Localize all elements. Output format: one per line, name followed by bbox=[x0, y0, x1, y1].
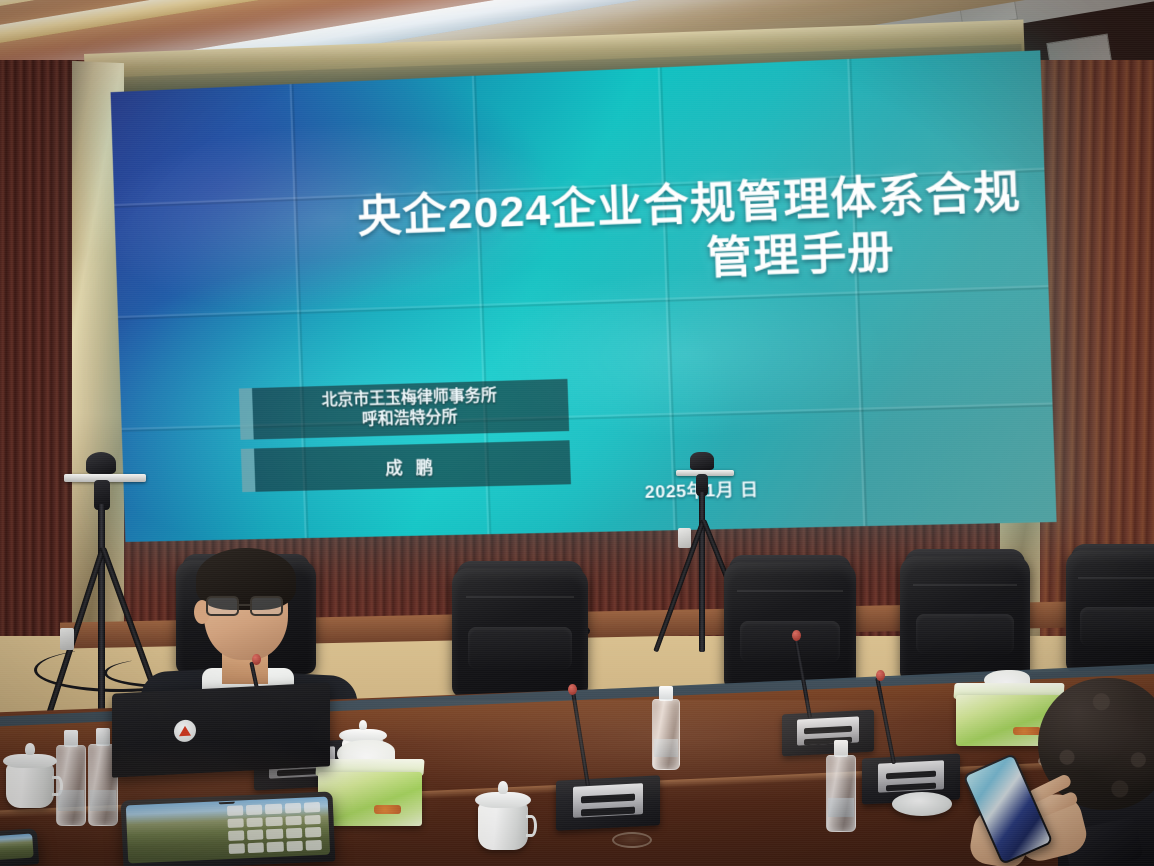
tissue-box-body bbox=[318, 772, 422, 826]
slide-organization-box: 北京市王玉梅律师事务所 呼和浩特分所 bbox=[239, 379, 569, 440]
laptop-closed[interactable] bbox=[112, 682, 330, 777]
slide-content: 央企2024企业合规管理体系合规 管理手册 北京市王玉梅律师事务所 呼和浩特分所… bbox=[111, 50, 1057, 542]
microphone-2-capsule bbox=[568, 684, 577, 695]
saucer bbox=[892, 792, 952, 816]
laptop-desktop-icons bbox=[227, 802, 322, 855]
chair-backrest bbox=[900, 556, 1030, 682]
camera-head-icon bbox=[86, 452, 116, 474]
conference-room-photo: 央企2024企业合规管理体系合规 管理手册 北京市王玉梅律师事务所 呼和浩特分所… bbox=[0, 0, 1154, 866]
water-bottle-1 bbox=[56, 730, 86, 826]
chair-lumbar-panel bbox=[740, 621, 840, 662]
led-video-wall[interactable]: 央企2024企业合规管理体系合规 管理手册 北京市王玉梅律师事务所 呼和浩特分所… bbox=[111, 50, 1057, 542]
laptop-webcam-icon bbox=[219, 801, 235, 805]
microphone-1-capsule bbox=[252, 654, 261, 665]
laptop-screen-1 bbox=[126, 797, 330, 864]
camera-head-icon bbox=[690, 452, 714, 470]
laptop-open-1[interactable] bbox=[121, 791, 336, 866]
chair-lumbar-panel bbox=[468, 627, 571, 668]
water-bottle-3 bbox=[652, 686, 680, 770]
tissue-box-1 bbox=[318, 760, 422, 826]
chair-backrest bbox=[452, 568, 588, 697]
laptop-screen-2 bbox=[0, 833, 34, 860]
chair-backrest bbox=[1066, 550, 1154, 673]
microphone-2[interactable] bbox=[556, 775, 660, 830]
microphone-4-capsule bbox=[876, 670, 885, 681]
microphone-3-capsule bbox=[792, 630, 801, 641]
tripod-accessory-box bbox=[60, 628, 74, 650]
teacup-2 bbox=[478, 786, 528, 850]
table-coaster bbox=[612, 832, 652, 848]
laptop-brand-logo-icon bbox=[174, 719, 196, 742]
chair-lumbar-panel bbox=[916, 614, 1015, 654]
tripod-accessory-box bbox=[678, 528, 691, 548]
water-bottle-4 bbox=[826, 740, 856, 832]
slide-presenter-name: 成 鹏 bbox=[264, 450, 560, 483]
chair-lumbar-panel bbox=[1080, 607, 1154, 646]
slide-presenter-box: 成 鹏 bbox=[241, 440, 571, 492]
laptop-open-2[interactable] bbox=[0, 828, 39, 866]
presenter-glasses-icon bbox=[206, 596, 288, 616]
tripod-center-column bbox=[699, 492, 705, 652]
chair-backrest bbox=[724, 562, 856, 690]
slide-title: 央企2024企业合规管理体系合规 管理手册 bbox=[243, 166, 1024, 301]
teacup-3 bbox=[6, 748, 54, 808]
